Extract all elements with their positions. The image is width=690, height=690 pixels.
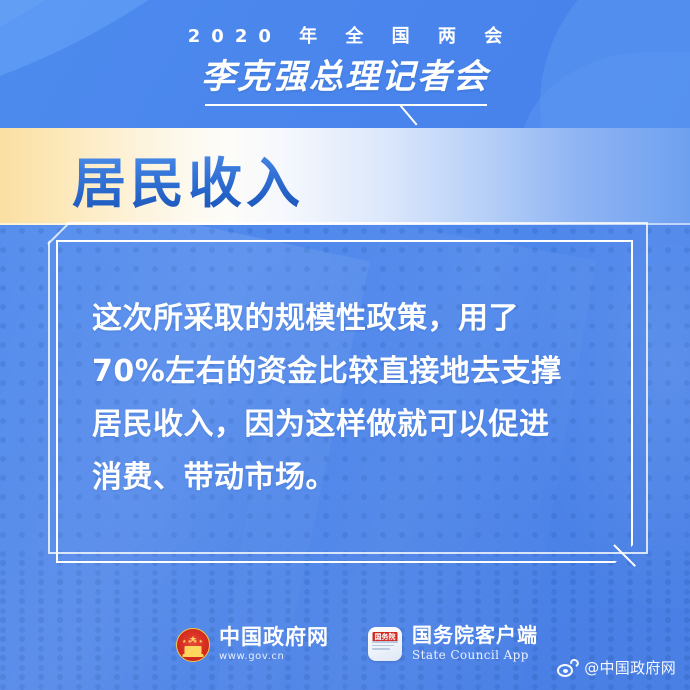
- quote-line: 消费、带动市场。: [92, 451, 612, 504]
- brand-app-text: 国务院客户端 State Council App: [412, 625, 538, 663]
- quote-text-block: 这次所采取的规模性政策，用了 70%左右的资金比较直接地去支撑 居民收入，因为这…: [92, 292, 612, 504]
- app-icon-lines: [372, 641, 398, 656]
- brand-gov-cn[interactable]: ★ ★★★★ 中国政府网 www.gov.cn: [176, 626, 329, 663]
- page-title: 居民收入: [72, 139, 304, 218]
- weibo-handle: @中国政府网: [584, 657, 676, 678]
- brand-gov-text: 中国政府网 www.gov.cn: [219, 626, 329, 663]
- brand-gov-url: www.gov.cn: [219, 650, 329, 663]
- brand-app-name-cn: 国务院客户端: [412, 625, 538, 646]
- header-eyebrow: 2020 年 全 国 两 会: [0, 22, 690, 48]
- poster-canvas: 2020 年 全 国 两 会 李克强总理记者会 居民收入 这次所采取的规模性政策…: [0, 0, 690, 690]
- brand-app-name-en: State Council App: [412, 648, 538, 663]
- emblem-star-arc-icon: ★★★★: [177, 640, 209, 645]
- emblem-gate-icon: [185, 646, 202, 655]
- national-emblem-icon: ★ ★★★★: [176, 628, 210, 662]
- header-main-title: 李克强总理记者会: [0, 49, 690, 98]
- quote-frame-inner-corner-icon: [610, 540, 640, 570]
- state-council-app-icon: 国务院: [368, 627, 402, 661]
- brand-state-council-app[interactable]: 国务院 国务院客户端 State Council App: [368, 625, 538, 663]
- quote-line: 居民收入，因为这样做就可以促进: [92, 398, 612, 451]
- brand-gov-name: 中国政府网: [219, 626, 329, 648]
- angled-rule-icon: [400, 104, 424, 128]
- quote-line: 70%左右的资金比较直接地去支撑: [92, 345, 612, 398]
- header-rule-dash: [438, 104, 486, 106]
- weibo-icon: [557, 659, 579, 677]
- quote-line: 这次所采取的规模性政策，用了: [92, 292, 612, 345]
- weibo-watermark[interactable]: @中国政府网: [557, 657, 676, 678]
